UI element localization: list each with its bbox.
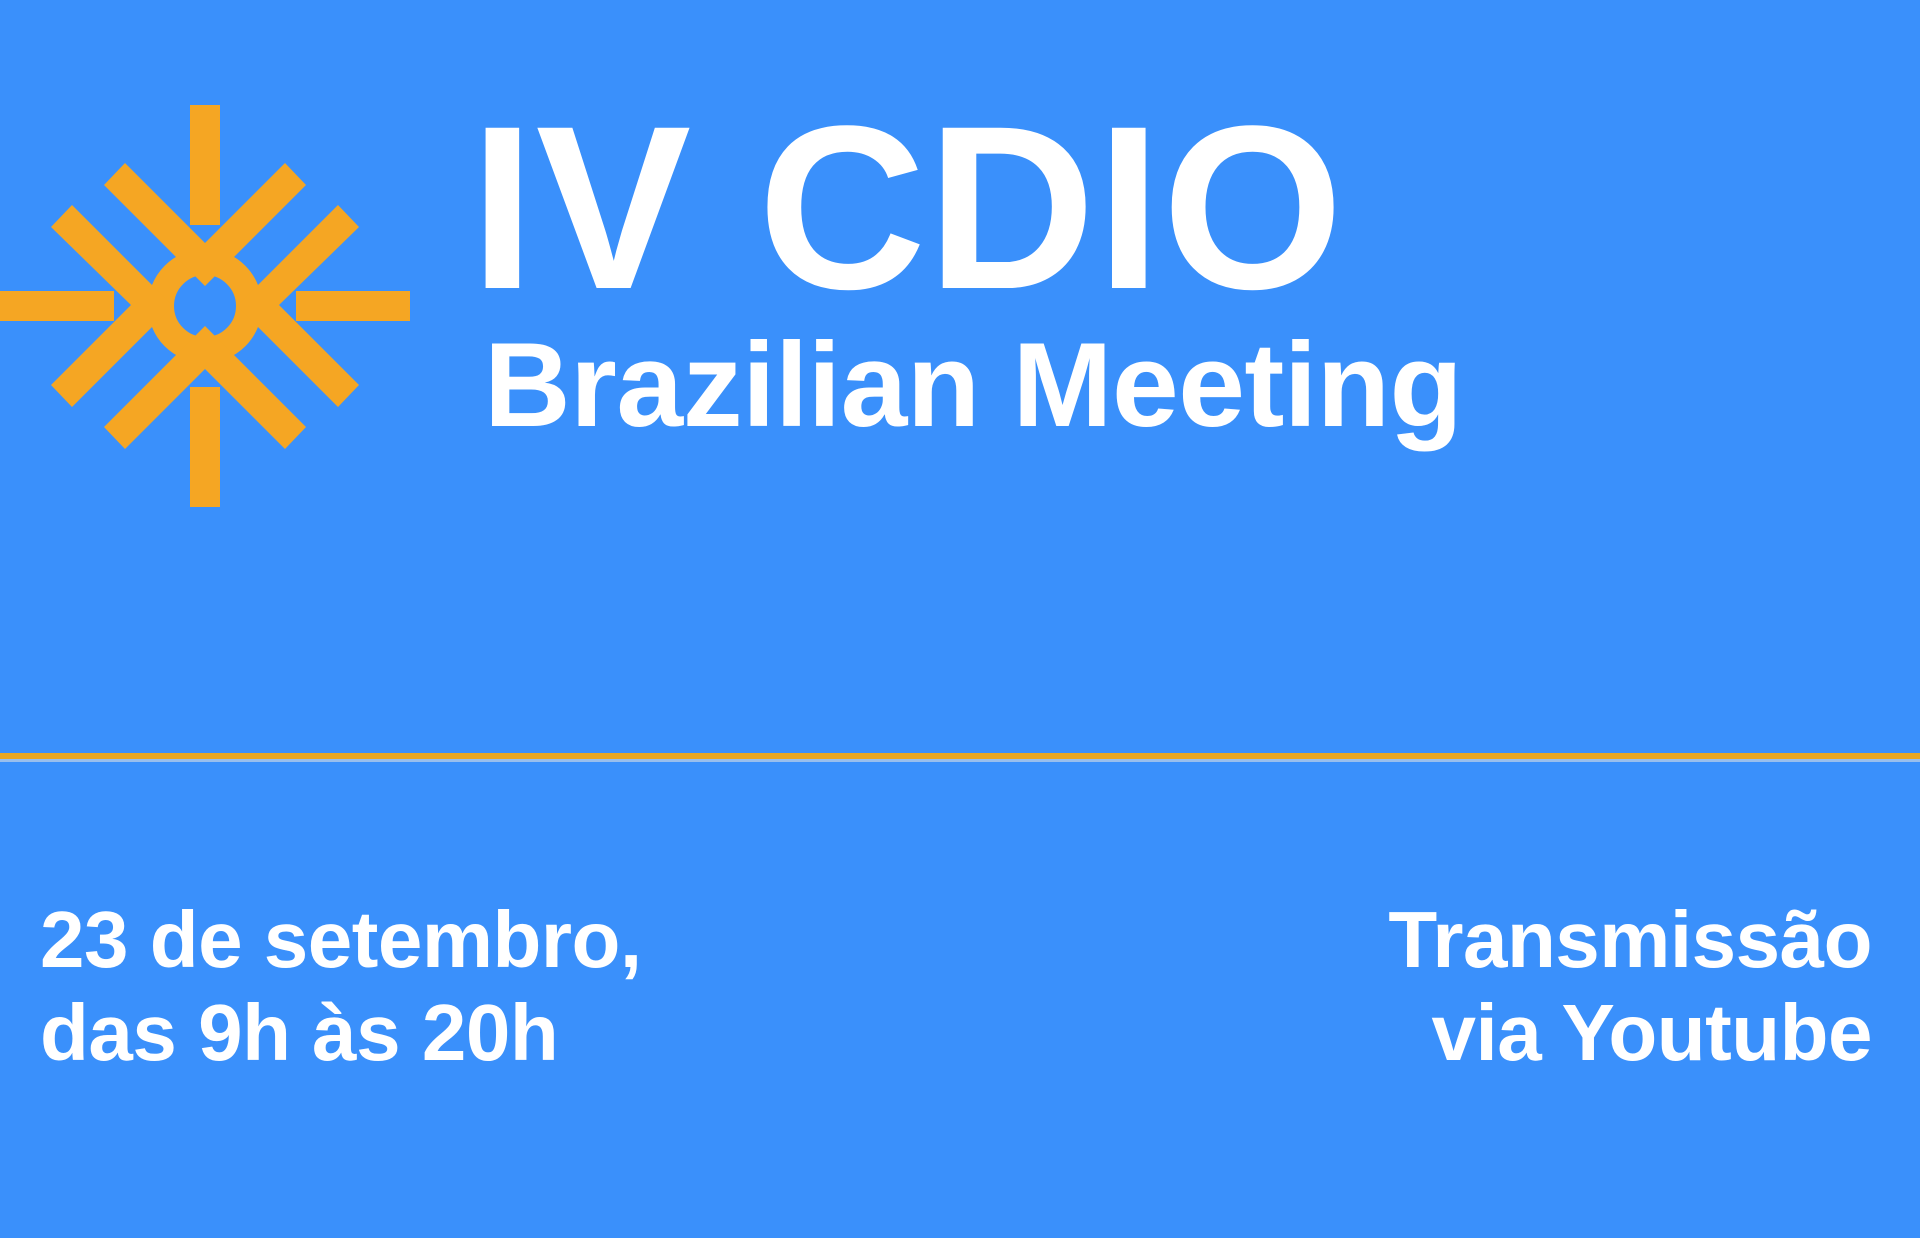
event-date-line2: das 9h às 20h — [40, 987, 642, 1080]
event-broadcast-line2: via Youtube — [1388, 987, 1872, 1080]
event-date-block: 23 de setembro, das 9h às 20h — [40, 894, 642, 1080]
poster-header-band: IV CDIO Brazilian Meeting — [0, 0, 1920, 755]
poster-footer-band: 23 de setembro, das 9h às 20h Transmissã… — [0, 762, 1920, 1238]
event-date-line1: 23 de setembro, — [40, 894, 642, 987]
cdio-logo — [0, 95, 410, 515]
event-broadcast-block: Transmissão via Youtube — [1388, 894, 1872, 1080]
event-subtitle: Brazilian Meeting — [484, 325, 1890, 445]
event-poster: IV CDIO Brazilian Meeting 23 de setembro… — [0, 0, 1920, 1238]
converging-arrows-icon — [0, 95, 410, 515]
event-title: IV CDIO — [470, 100, 1890, 317]
title-block: IV CDIO Brazilian Meeting — [470, 100, 1890, 445]
event-broadcast-line1: Transmissão — [1388, 894, 1872, 987]
